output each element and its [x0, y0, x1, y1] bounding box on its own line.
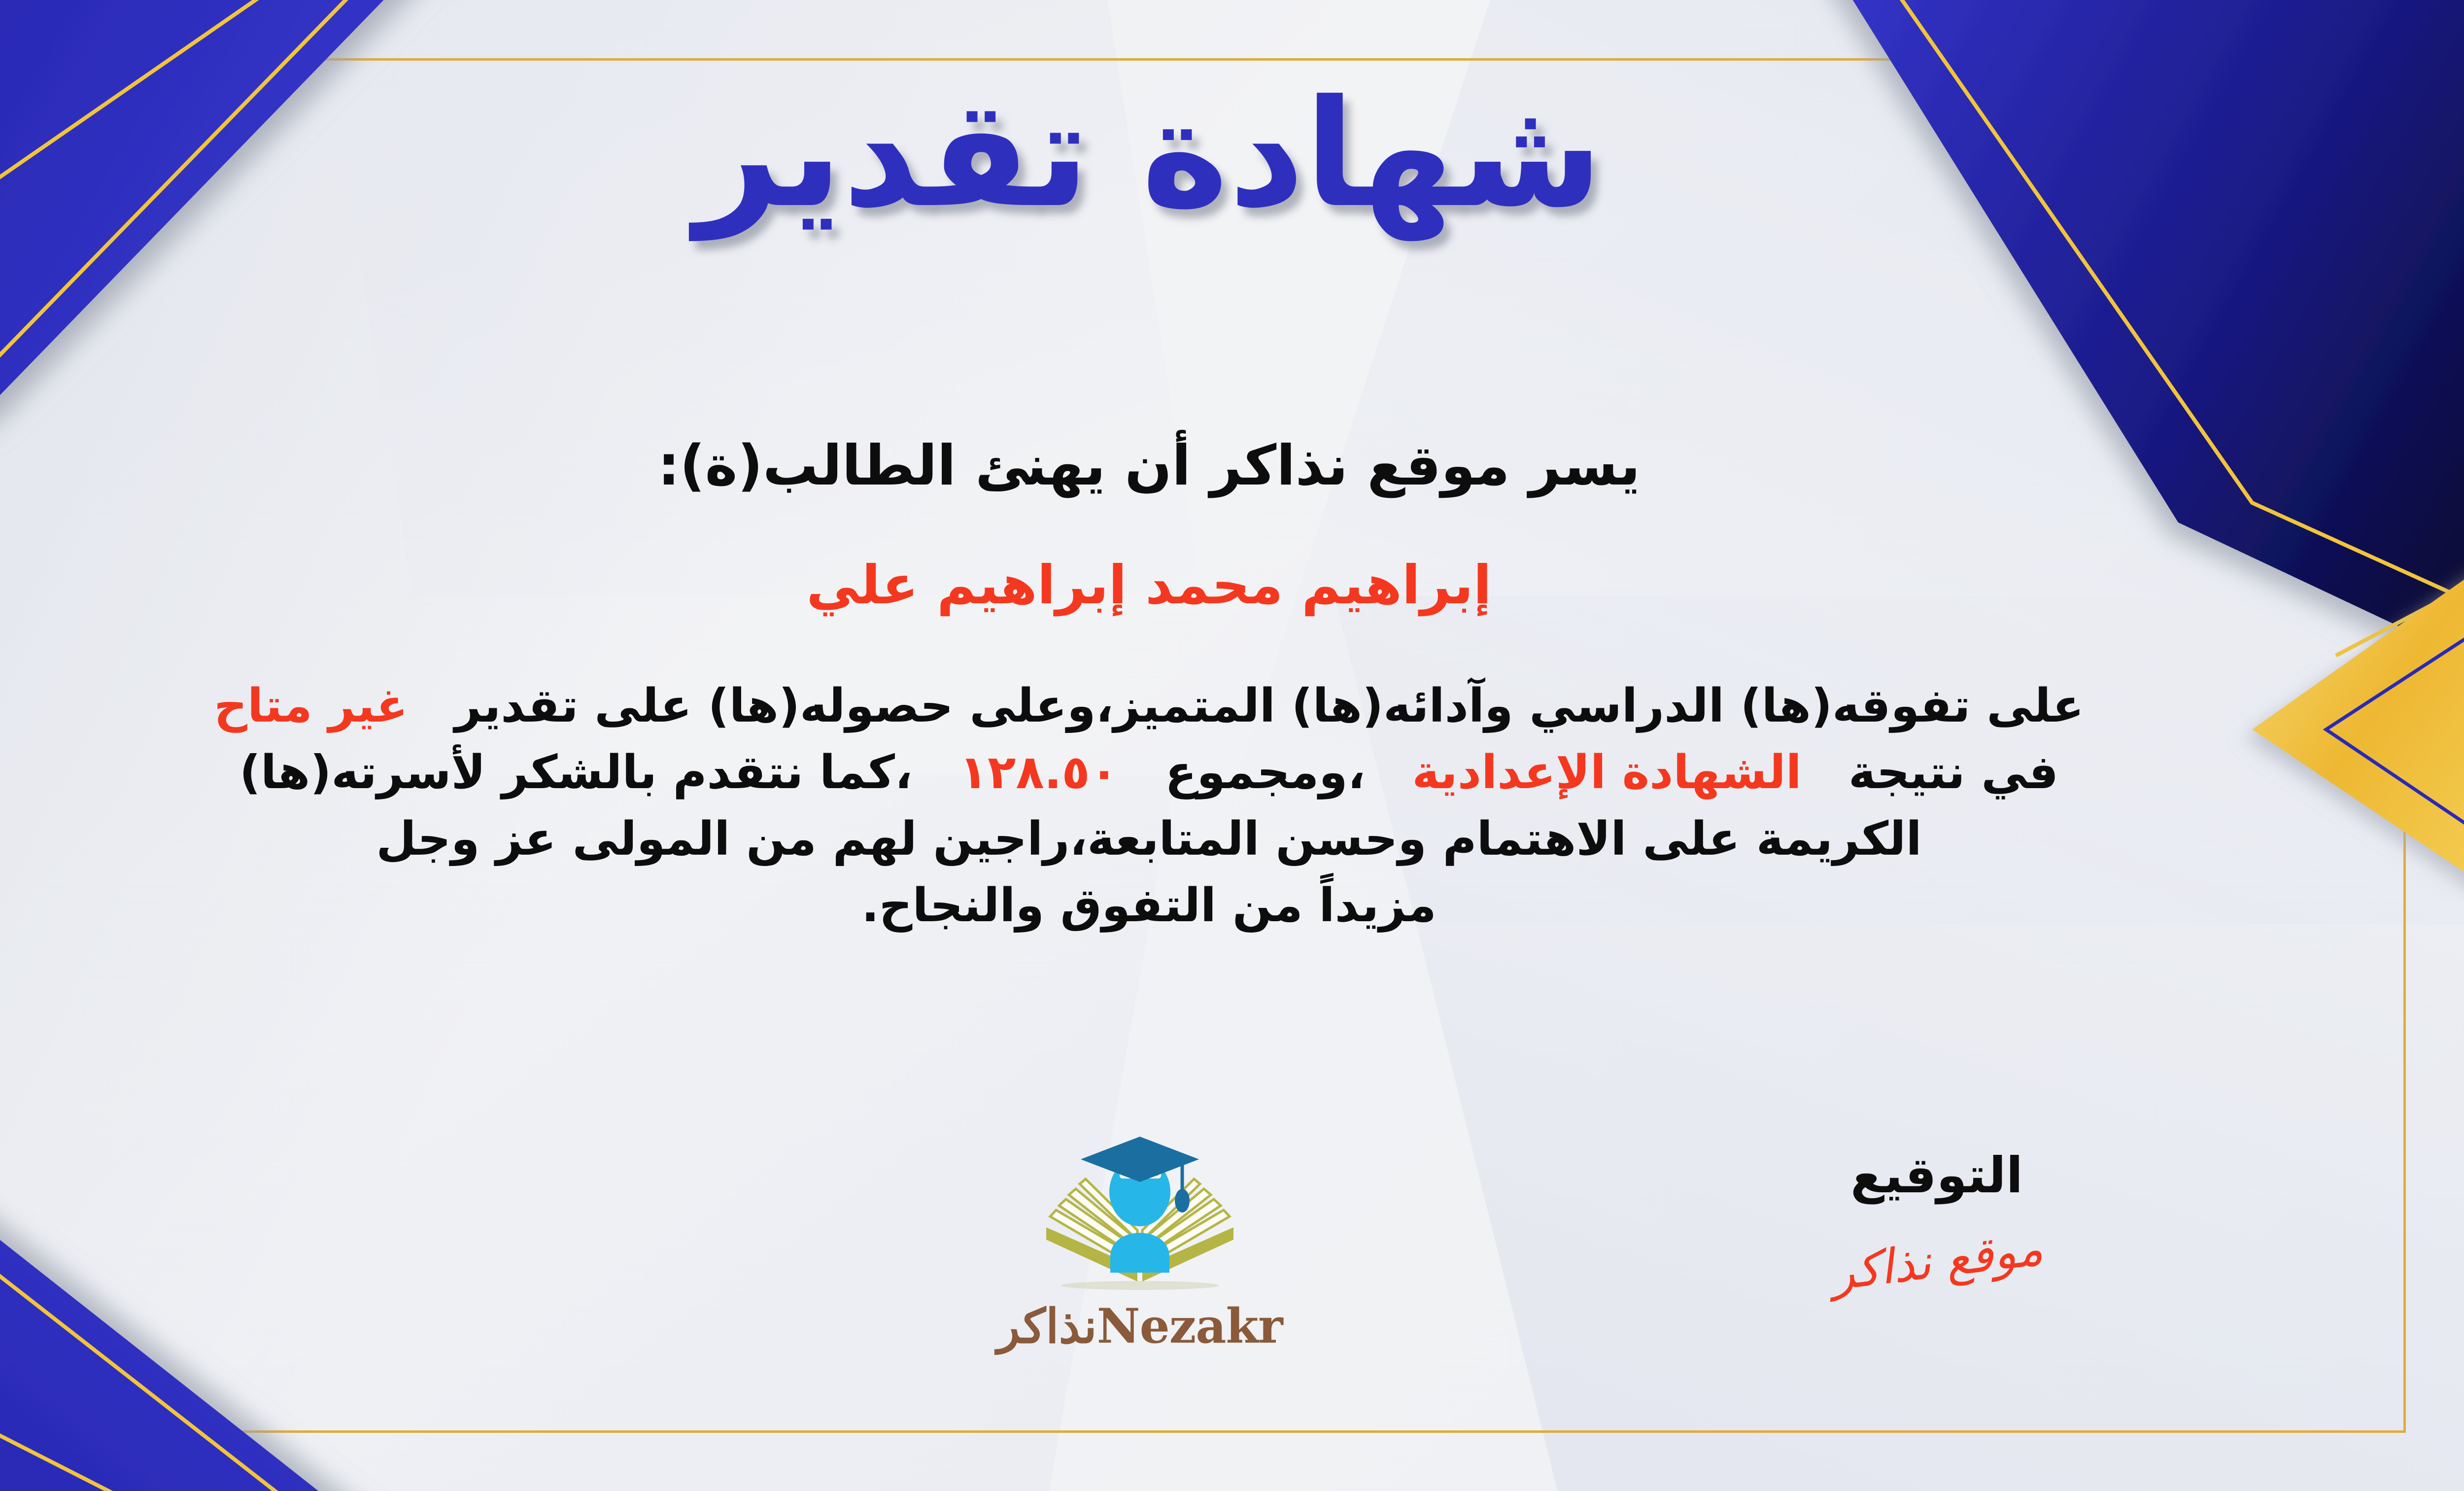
certificate-page: شهادة تقدير يسر موقع نذاكر أن يهنئ الطال… — [0, 0, 2464, 1491]
graduation-book-icon — [1036, 1134, 1243, 1296]
signature-mark: موقع نذاكر — [1828, 1220, 2045, 1301]
brand-wordmark: Nezakrنذاكر — [953, 1298, 1327, 1354]
body-line-2-mid: ،ومجموع — [1165, 746, 1365, 799]
body-line-4: مزيداً من التفوق والنجاح. — [0, 875, 2375, 936]
student-name: إبراهيم محمد إبراهيم علي — [0, 555, 2464, 616]
grade-value: غير متاح — [214, 679, 408, 733]
body-line-1: على تفوقه(ها) الدراسي وآدائه(ها) المتميز… — [0, 675, 2375, 737]
body-line-2: في نتيجةالشهادة الإعدادية،ومجموع١٢٨.٥٠،ك… — [0, 742, 2375, 803]
total-score: ١٢٨.٥٠ — [959, 746, 1119, 799]
signature-block: التوقيع موقع نذاكر — [1784, 1148, 2089, 1288]
brand-latin: Nezakr — [1097, 1298, 1283, 1354]
greeting-line: يسر موقع نذاكر أن يهنئ الطالب(ة): — [0, 434, 2464, 498]
body-line-3: الكريمة على الاهتمام وحسن المتابعة،راجين… — [0, 808, 2375, 870]
body-line-2-suffix: ،كما نتقدم بالشكر لأسرته(ها) — [240, 746, 913, 799]
brand-logo: Nezakrنذاكر — [953, 1134, 1327, 1354]
exam-name: الشهادة الإعدادية — [1412, 746, 1801, 799]
body-line-1-text: على تفوقه(ها) الدراسي وآدائه(ها) المتميز… — [455, 679, 2084, 733]
certificate-title: شهادة تقدير — [0, 69, 2464, 239]
brand-arabic: نذاكر — [997, 1298, 1096, 1354]
body-line-2-prefix: في نتيجة — [1848, 746, 2058, 799]
certificate-body: على تفوقه(ها) الدراسي وآدائه(ها) المتميز… — [0, 675, 2375, 941]
signature-label: التوقيع — [1784, 1148, 2089, 1203]
